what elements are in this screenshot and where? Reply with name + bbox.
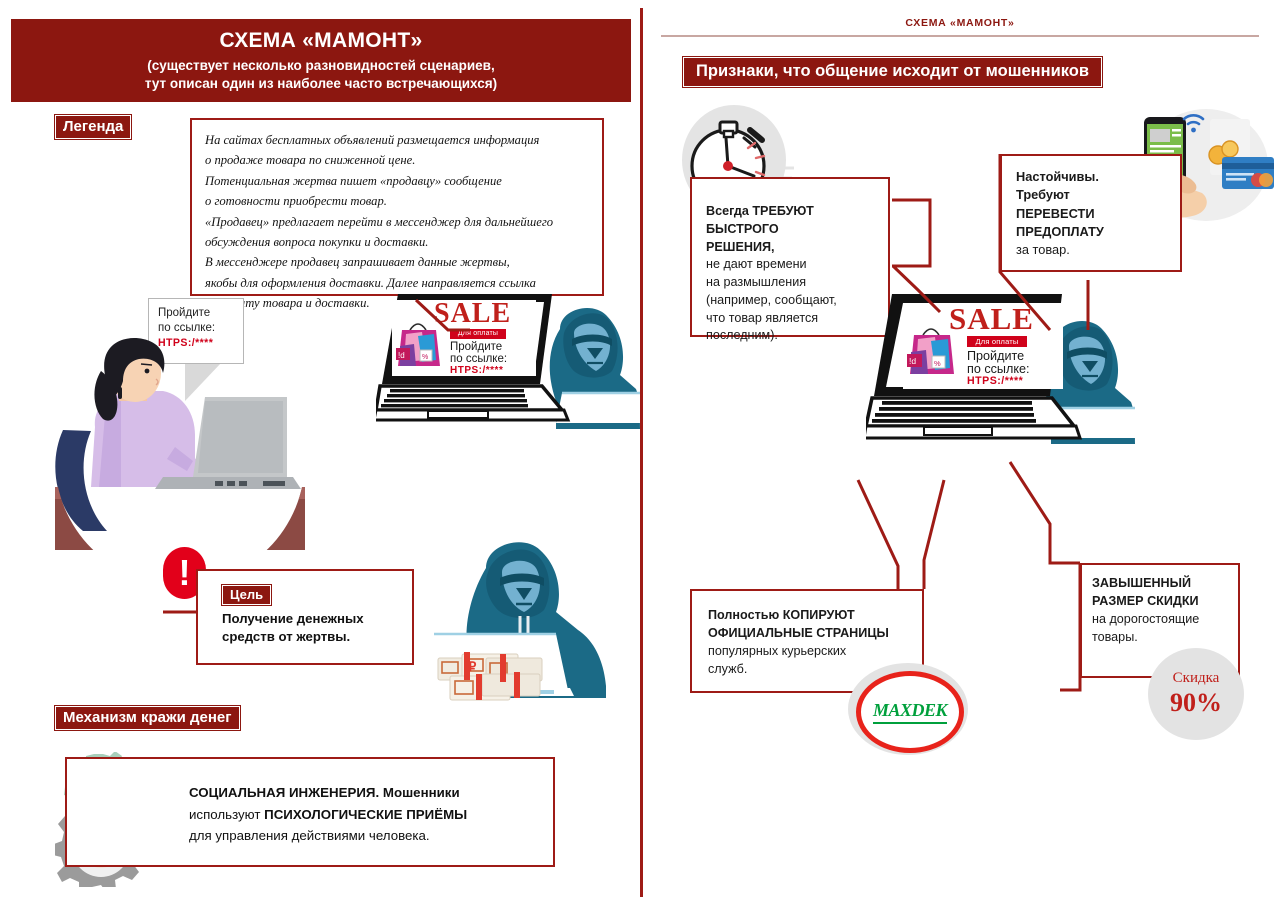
right-connectors — [640, 0, 1280, 905]
infographic-page: СХЕМА «МАМОНТ» (существует несколько раз… — [0, 0, 1280, 905]
left-connectors — [0, 0, 640, 905]
